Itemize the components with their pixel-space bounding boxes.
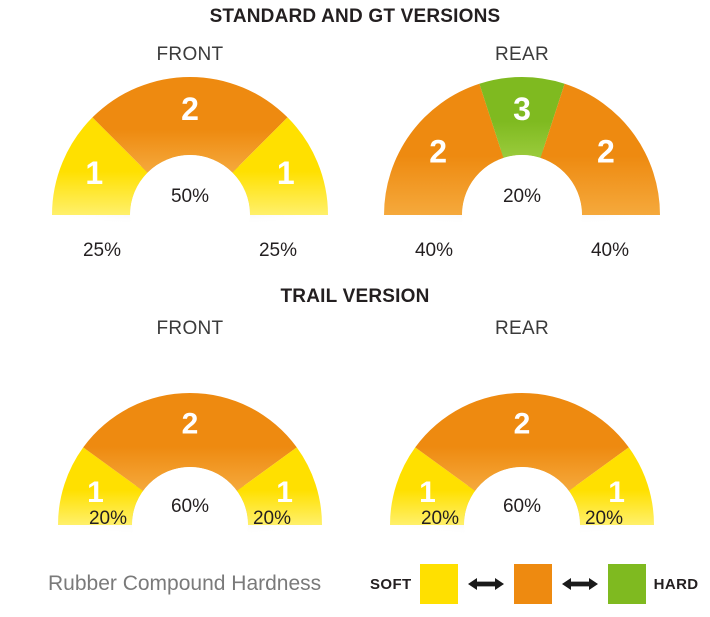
gauge-right-percent: 20% xyxy=(566,508,642,530)
gauge-standard-rear: 23220% xyxy=(372,65,672,233)
legend-soft-label: SOFT xyxy=(370,576,412,593)
legend-arrow-right-icon xyxy=(560,575,600,593)
gauge-right-percent: 25% xyxy=(240,240,316,262)
gauge-segment-number: 1 xyxy=(87,476,104,509)
infographic-root: STANDARD AND GT VERSIONS TRAIL VERSION F… xyxy=(0,0,710,617)
legend-swatch-hard xyxy=(608,564,646,604)
gauge-caption-trail-front: FRONT xyxy=(80,318,300,340)
gauge-segment-number: 1 xyxy=(608,476,625,509)
gauge-hub xyxy=(130,155,250,275)
gauge-caption-trail-rear: REAR xyxy=(412,318,632,340)
gauge-center-percent: 20% xyxy=(503,186,541,207)
gauge-center-percent: 60% xyxy=(503,496,541,517)
gauge-right-percent: 40% xyxy=(572,240,648,262)
gauge-standard-front: 12150% xyxy=(40,65,340,233)
gauge-segment-number: 2 xyxy=(181,91,199,127)
gauge-right-percent: 20% xyxy=(234,508,310,530)
gauge-segment-number: 2 xyxy=(429,134,447,170)
gauge-segment-number: 1 xyxy=(419,476,436,509)
legend-arrow-left-icon xyxy=(466,575,506,593)
gauge-center-percent: 50% xyxy=(171,186,209,207)
section-title-trail: TRAIL VERSION xyxy=(0,286,710,308)
gauge-hub xyxy=(462,155,582,275)
gauge-segment-number: 3 xyxy=(513,91,531,127)
gauge-center-percent: 60% xyxy=(171,496,209,517)
gauge-segment-number: 2 xyxy=(514,407,531,440)
gauge-left-percent: 20% xyxy=(70,508,146,530)
gauge-left-percent: 20% xyxy=(402,508,478,530)
section-title-standard: STANDARD AND GT VERSIONS xyxy=(0,6,710,28)
gauge-left-percent: 25% xyxy=(64,240,140,262)
gauge-segment-number: 1 xyxy=(277,155,295,191)
legend-swatch-soft xyxy=(420,564,458,604)
gauge-caption-standard-rear: REAR xyxy=(412,44,632,66)
legend-title: Rubber Compound Hardness xyxy=(48,562,321,606)
gauge-left-percent: 40% xyxy=(396,240,472,262)
legend-hard-label: HARD xyxy=(654,576,699,593)
legend-swatch-medium xyxy=(514,564,552,604)
gauge-caption-standard-front: FRONT xyxy=(80,44,300,66)
legend-scale: SOFT HARD xyxy=(370,562,699,606)
gauge-segment-number: 1 xyxy=(85,155,103,191)
gauge-segment-number: 1 xyxy=(276,476,293,509)
gauge-segment-number: 2 xyxy=(182,407,199,440)
legend: Rubber Compound Hardness SOFT HARD xyxy=(0,562,710,606)
gauge-segment-number: 2 xyxy=(597,134,615,170)
